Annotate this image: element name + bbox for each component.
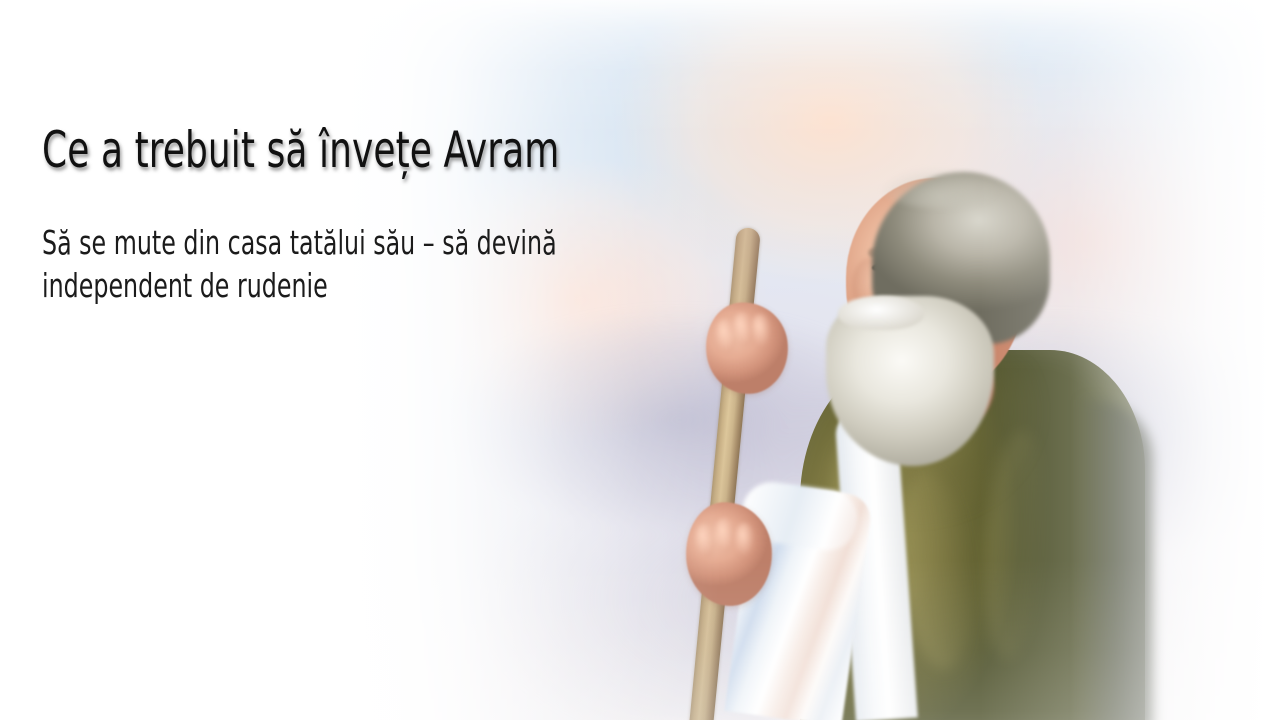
body-line-1: Să se mute din casa tatălui său – să dev… [42, 222, 650, 265]
fade-right [0, 0, 1280, 720]
illustration-avram [0, 0, 1280, 720]
body-line-2: independent de rudenie [42, 265, 650, 308]
slide-body: Să se mute din casa tatălui său – să dev… [42, 222, 650, 308]
slide-title: Ce a trebuit să învețe Avram [42, 122, 538, 178]
slide-canvas: Ce a trebuit să învețe Avram Să se mute … [0, 0, 1280, 720]
